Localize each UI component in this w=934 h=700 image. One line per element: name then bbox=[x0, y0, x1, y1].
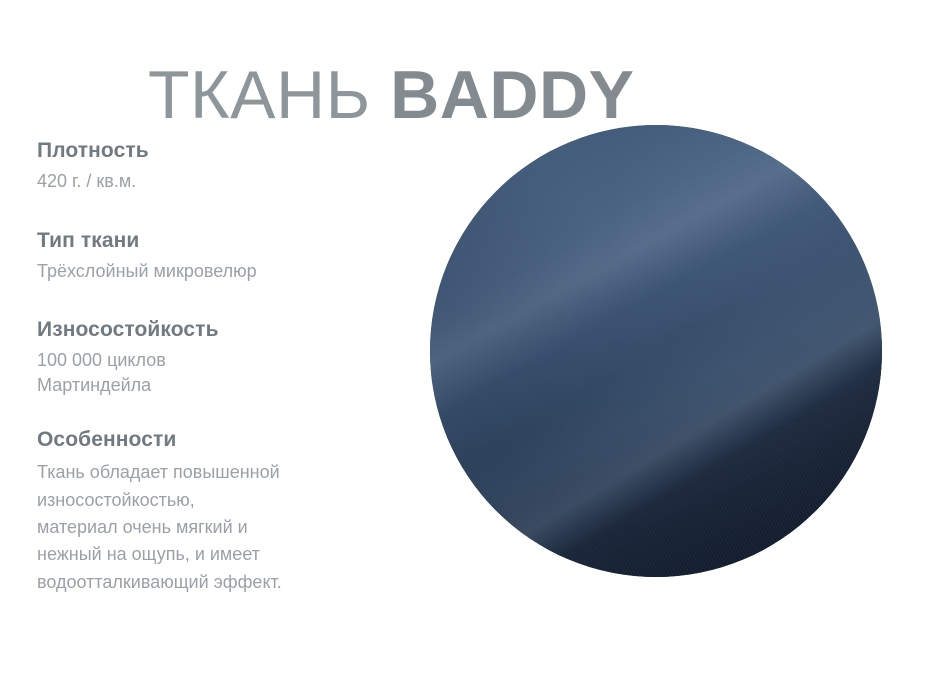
spec-item-density: Плотность 420 г. / кв.м. bbox=[37, 138, 397, 194]
spec-value-fabric-type: Трёхслойный микровелюр bbox=[37, 259, 397, 283]
spec-item-fabric-type: Тип ткани Трёхслойный микровелюр bbox=[37, 228, 397, 284]
page-title-strong: BADDY bbox=[390, 57, 634, 133]
spec-value-wear-resistance: 100 000 циклов Мартиндейла bbox=[37, 348, 397, 397]
spec-value-features: Ткань обладает повышенной износостойкост… bbox=[37, 459, 382, 596]
spec-item-features: Особенности Ткань обладает повышенной из… bbox=[37, 427, 397, 596]
spec-label-features: Особенности bbox=[37, 427, 397, 453]
spec-label-density: Плотность bbox=[37, 138, 397, 164]
spec-label-wear-resistance: Износостойкость bbox=[37, 317, 397, 343]
spec-list: Плотность 420 г. / кв.м. Тип ткани Трёхс… bbox=[37, 138, 397, 596]
fabric-vignette-layer bbox=[430, 125, 882, 577]
spec-item-wear-resistance: Износостойкость 100 000 циклов Мартиндей… bbox=[37, 317, 397, 397]
spec-label-fabric-type: Тип ткани bbox=[37, 228, 397, 254]
spec-value-density: 420 г. / кв.м. bbox=[37, 169, 397, 193]
page-title: ТКАНЬ BADDY bbox=[148, 60, 634, 131]
page-title-light: ТКАНЬ bbox=[148, 57, 390, 133]
fabric-spec-slide: ТКАНЬ BADDY Плотность 420 г. / кв.м. Тип… bbox=[0, 0, 934, 700]
fabric-swatch-photo bbox=[430, 125, 882, 577]
